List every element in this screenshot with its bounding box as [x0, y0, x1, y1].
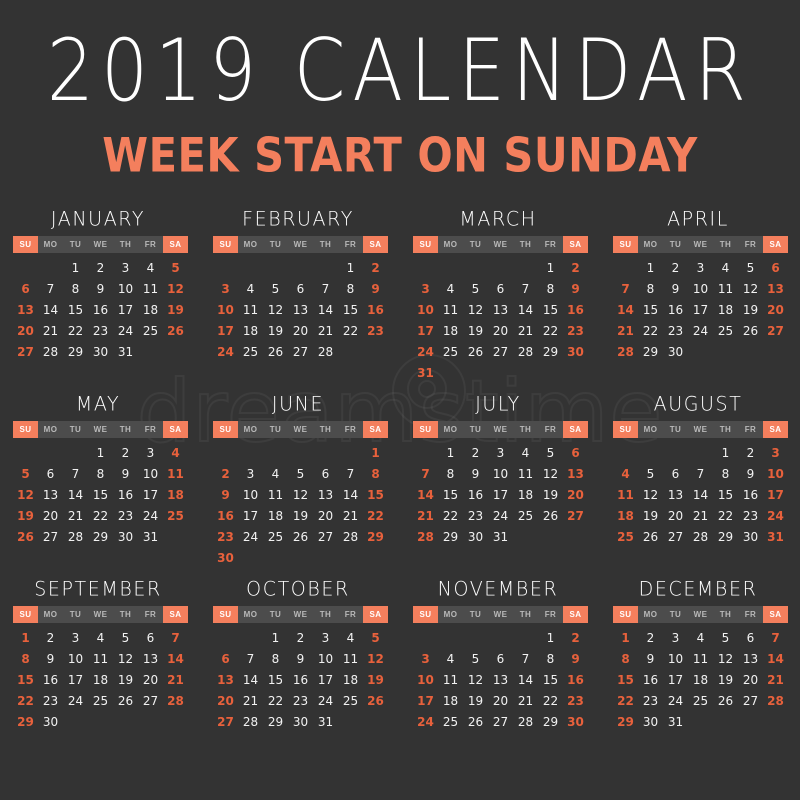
day-cell[interactable]: 26 [363, 690, 388, 711]
day-cell[interactable]: 26 [638, 526, 663, 547]
day-cell[interactable]: 22 [263, 690, 288, 711]
day-cell[interactable]: 14 [513, 299, 538, 320]
day-cell[interactable]: 7 [513, 648, 538, 669]
day-cell[interactable]: 1 [363, 442, 388, 463]
day-cell[interactable]: 19 [638, 505, 663, 526]
day-cell[interactable]: 20 [138, 669, 163, 690]
day-cell[interactable]: 18 [438, 320, 463, 341]
day-cell[interactable]: 1 [713, 442, 738, 463]
day-cell[interactable]: 21 [338, 505, 363, 526]
day-cell[interactable]: 20 [563, 484, 588, 505]
day-cell[interactable]: 13 [563, 463, 588, 484]
day-cell[interactable]: 25 [688, 690, 713, 711]
day-cell[interactable]: 1 [538, 257, 563, 278]
day-cell[interactable]: 10 [63, 648, 88, 669]
day-cell[interactable]: 10 [413, 669, 438, 690]
day-cell[interactable]: 4 [88, 627, 113, 648]
day-cell[interactable]: 28 [513, 341, 538, 362]
day-cell[interactable]: 23 [363, 320, 388, 341]
day-cell[interactable]: 26 [288, 526, 313, 547]
day-cell[interactable]: 6 [488, 278, 513, 299]
day-cell[interactable]: 13 [138, 648, 163, 669]
day-cell[interactable]: 20 [38, 505, 63, 526]
day-cell[interactable]: 8 [638, 278, 663, 299]
day-cell[interactable]: 21 [238, 690, 263, 711]
day-cell[interactable]: 20 [488, 320, 513, 341]
day-cell[interactable]: 4 [238, 278, 263, 299]
day-cell[interactable]: 6 [763, 257, 788, 278]
day-cell[interactable]: 26 [463, 711, 488, 732]
day-cell[interactable]: 1 [88, 442, 113, 463]
day-cell[interactable]: 17 [413, 690, 438, 711]
day-cell[interactable]: 17 [238, 505, 263, 526]
day-cell[interactable]: 20 [663, 505, 688, 526]
day-cell[interactable]: 28 [38, 341, 63, 362]
day-cell[interactable]: 21 [38, 320, 63, 341]
day-cell[interactable]: 2 [88, 257, 113, 278]
day-cell[interactable]: 25 [138, 320, 163, 341]
day-cell[interactable]: 5 [13, 463, 38, 484]
day-cell[interactable]: 19 [13, 505, 38, 526]
day-cell[interactable]: 20 [13, 320, 38, 341]
day-cell[interactable]: 31 [313, 711, 338, 732]
day-cell[interactable]: 3 [663, 627, 688, 648]
day-cell[interactable]: 30 [213, 547, 238, 568]
day-cell[interactable]: 31 [763, 526, 788, 547]
day-cell[interactable]: 21 [413, 505, 438, 526]
day-cell[interactable]: 3 [413, 648, 438, 669]
day-cell[interactable]: 20 [288, 320, 313, 341]
day-cell[interactable]: 31 [138, 526, 163, 547]
day-cell[interactable]: 14 [238, 669, 263, 690]
day-cell[interactable]: 20 [213, 690, 238, 711]
day-cell[interactable]: 6 [488, 648, 513, 669]
day-cell[interactable]: 3 [113, 257, 138, 278]
day-cell[interactable]: 30 [288, 711, 313, 732]
day-cell[interactable]: 26 [713, 690, 738, 711]
day-cell[interactable]: 2 [363, 257, 388, 278]
day-cell[interactable]: 17 [138, 484, 163, 505]
day-cell[interactable]: 28 [688, 526, 713, 547]
day-cell[interactable]: 4 [513, 442, 538, 463]
day-cell[interactable]: 4 [613, 463, 638, 484]
day-cell[interactable]: 23 [663, 320, 688, 341]
day-cell[interactable]: 11 [438, 669, 463, 690]
day-cell[interactable]: 18 [513, 484, 538, 505]
day-cell[interactable]: 6 [663, 463, 688, 484]
day-cell[interactable]: 25 [513, 505, 538, 526]
day-cell[interactable]: 25 [713, 320, 738, 341]
day-cell[interactable]: 8 [63, 278, 88, 299]
day-cell[interactable]: 15 [63, 299, 88, 320]
day-cell[interactable]: 4 [713, 257, 738, 278]
day-cell[interactable]: 20 [763, 299, 788, 320]
day-cell[interactable]: 12 [263, 299, 288, 320]
day-cell[interactable]: 1 [338, 257, 363, 278]
day-cell[interactable]: 24 [663, 690, 688, 711]
day-cell[interactable]: 12 [738, 278, 763, 299]
day-cell[interactable]: 1 [538, 627, 563, 648]
day-cell[interactable]: 2 [738, 442, 763, 463]
day-cell[interactable]: 4 [688, 627, 713, 648]
day-cell[interactable]: 9 [88, 278, 113, 299]
day-cell[interactable]: 28 [613, 341, 638, 362]
day-cell[interactable]: 8 [88, 463, 113, 484]
day-cell[interactable]: 18 [338, 669, 363, 690]
day-cell[interactable]: 25 [88, 690, 113, 711]
day-cell[interactable]: 23 [738, 505, 763, 526]
day-cell[interactable]: 5 [463, 278, 488, 299]
day-cell[interactable]: 9 [638, 648, 663, 669]
day-cell[interactable]: 12 [163, 278, 188, 299]
day-cell[interactable]: 8 [363, 463, 388, 484]
day-cell[interactable]: 28 [413, 526, 438, 547]
day-cell[interactable]: 13 [738, 648, 763, 669]
day-cell[interactable]: 15 [438, 484, 463, 505]
day-cell[interactable]: 11 [238, 299, 263, 320]
day-cell[interactable]: 9 [363, 278, 388, 299]
day-cell[interactable]: 15 [613, 669, 638, 690]
day-cell[interactable]: 9 [738, 463, 763, 484]
day-cell[interactable]: 29 [613, 711, 638, 732]
day-cell[interactable]: 8 [338, 278, 363, 299]
day-cell[interactable]: 19 [263, 320, 288, 341]
day-cell[interactable]: 24 [238, 526, 263, 547]
day-cell[interactable]: 15 [538, 299, 563, 320]
day-cell[interactable]: 18 [438, 690, 463, 711]
day-cell[interactable]: 13 [663, 484, 688, 505]
day-cell[interactable]: 30 [88, 341, 113, 362]
day-cell[interactable]: 25 [438, 341, 463, 362]
day-cell[interactable]: 29 [263, 711, 288, 732]
day-cell[interactable]: 3 [238, 463, 263, 484]
day-cell[interactable]: 5 [713, 627, 738, 648]
day-cell[interactable]: 30 [463, 526, 488, 547]
day-cell[interactable]: 16 [363, 299, 388, 320]
day-cell[interactable]: 1 [638, 257, 663, 278]
day-cell[interactable]: 2 [638, 627, 663, 648]
day-cell[interactable]: 29 [13, 711, 38, 732]
day-cell[interactable]: 24 [413, 341, 438, 362]
day-cell[interactable]: 18 [88, 669, 113, 690]
day-cell[interactable]: 19 [363, 669, 388, 690]
day-cell[interactable]: 17 [113, 299, 138, 320]
day-cell[interactable]: 11 [88, 648, 113, 669]
day-cell[interactable]: 11 [138, 278, 163, 299]
day-cell[interactable]: 20 [313, 505, 338, 526]
day-cell[interactable]: 7 [238, 648, 263, 669]
day-cell[interactable]: 9 [563, 648, 588, 669]
day-cell[interactable]: 18 [613, 505, 638, 526]
day-cell[interactable]: 23 [38, 690, 63, 711]
day-cell[interactable]: 23 [213, 526, 238, 547]
day-cell[interactable]: 26 [113, 690, 138, 711]
day-cell[interactable]: 31 [113, 341, 138, 362]
day-cell[interactable]: 16 [738, 484, 763, 505]
day-cell[interactable]: 18 [163, 484, 188, 505]
day-cell[interactable]: 19 [288, 505, 313, 526]
day-cell[interactable]: 5 [738, 257, 763, 278]
day-cell[interactable]: 10 [663, 648, 688, 669]
day-cell[interactable]: 31 [413, 362, 438, 383]
day-cell[interactable]: 25 [263, 526, 288, 547]
day-cell[interactable]: 22 [538, 690, 563, 711]
day-cell[interactable]: 19 [738, 299, 763, 320]
day-cell[interactable]: 14 [688, 484, 713, 505]
day-cell[interactable]: 24 [413, 711, 438, 732]
day-cell[interactable]: 29 [538, 341, 563, 362]
day-cell[interactable]: 7 [313, 278, 338, 299]
day-cell[interactable]: 24 [213, 341, 238, 362]
day-cell[interactable]: 12 [463, 299, 488, 320]
day-cell[interactable]: 3 [413, 278, 438, 299]
day-cell[interactable]: 14 [338, 484, 363, 505]
day-cell[interactable]: 21 [513, 320, 538, 341]
day-cell[interactable]: 8 [263, 648, 288, 669]
day-cell[interactable]: 6 [288, 278, 313, 299]
day-cell[interactable]: 30 [738, 526, 763, 547]
day-cell[interactable]: 22 [88, 505, 113, 526]
day-cell[interactable]: 14 [613, 299, 638, 320]
day-cell[interactable]: 26 [538, 505, 563, 526]
day-cell[interactable]: 7 [688, 463, 713, 484]
day-cell[interactable]: 24 [688, 320, 713, 341]
day-cell[interactable]: 23 [638, 690, 663, 711]
day-cell[interactable]: 29 [638, 341, 663, 362]
day-cell[interactable]: 19 [113, 669, 138, 690]
day-cell[interactable]: 10 [413, 299, 438, 320]
day-cell[interactable]: 20 [488, 690, 513, 711]
day-cell[interactable]: 16 [213, 505, 238, 526]
day-cell[interactable]: 21 [63, 505, 88, 526]
day-cell[interactable]: 4 [263, 463, 288, 484]
day-cell[interactable]: 22 [613, 690, 638, 711]
day-cell[interactable]: 28 [513, 711, 538, 732]
day-cell[interactable]: 27 [488, 711, 513, 732]
day-cell[interactable]: 27 [763, 320, 788, 341]
day-cell[interactable]: 17 [763, 484, 788, 505]
day-cell[interactable]: 22 [13, 690, 38, 711]
day-cell[interactable]: 13 [488, 669, 513, 690]
day-cell[interactable]: 3 [763, 442, 788, 463]
day-cell[interactable]: 16 [638, 669, 663, 690]
day-cell[interactable]: 19 [463, 690, 488, 711]
day-cell[interactable]: 5 [463, 648, 488, 669]
day-cell[interactable]: 21 [763, 669, 788, 690]
day-cell[interactable]: 29 [363, 526, 388, 547]
day-cell[interactable]: 11 [713, 278, 738, 299]
day-cell[interactable]: 16 [88, 299, 113, 320]
day-cell[interactable]: 11 [163, 463, 188, 484]
day-cell[interactable]: 19 [163, 299, 188, 320]
day-cell[interactable]: 25 [438, 711, 463, 732]
day-cell[interactable]: 12 [463, 669, 488, 690]
day-cell[interactable]: 8 [13, 648, 38, 669]
day-cell[interactable]: 4 [438, 648, 463, 669]
day-cell[interactable]: 18 [713, 299, 738, 320]
day-cell[interactable]: 13 [38, 484, 63, 505]
day-cell[interactable]: 11 [263, 484, 288, 505]
day-cell[interactable]: 12 [363, 648, 388, 669]
day-cell[interactable]: 13 [288, 299, 313, 320]
day-cell[interactable]: 16 [563, 299, 588, 320]
day-cell[interactable]: 21 [513, 690, 538, 711]
day-cell[interactable]: 13 [313, 484, 338, 505]
day-cell[interactable]: 15 [638, 299, 663, 320]
day-cell[interactable]: 16 [113, 484, 138, 505]
day-cell[interactable]: 2 [563, 257, 588, 278]
day-cell[interactable]: 23 [113, 505, 138, 526]
day-cell[interactable]: 1 [438, 442, 463, 463]
day-cell[interactable]: 6 [213, 648, 238, 669]
day-cell[interactable]: 24 [763, 505, 788, 526]
day-cell[interactable]: 22 [338, 320, 363, 341]
day-cell[interactable]: 27 [488, 341, 513, 362]
day-cell[interactable]: 30 [113, 526, 138, 547]
day-cell[interactable]: 28 [63, 526, 88, 547]
day-cell[interactable]: 8 [613, 648, 638, 669]
day-cell[interactable]: 3 [313, 627, 338, 648]
day-cell[interactable]: 9 [288, 648, 313, 669]
day-cell[interactable]: 25 [338, 690, 363, 711]
day-cell[interactable]: 16 [38, 669, 63, 690]
day-cell[interactable]: 4 [338, 627, 363, 648]
day-cell[interactable]: 7 [613, 278, 638, 299]
day-cell[interactable]: 5 [538, 442, 563, 463]
day-cell[interactable]: 27 [213, 711, 238, 732]
day-cell[interactable]: 4 [163, 442, 188, 463]
day-cell[interactable]: 10 [763, 463, 788, 484]
day-cell[interactable]: 15 [538, 669, 563, 690]
day-cell[interactable]: 9 [563, 278, 588, 299]
day-cell[interactable]: 30 [663, 341, 688, 362]
day-cell[interactable]: 8 [713, 463, 738, 484]
day-cell[interactable]: 27 [138, 690, 163, 711]
day-cell[interactable]: 28 [238, 711, 263, 732]
day-cell[interactable]: 15 [88, 484, 113, 505]
day-cell[interactable]: 2 [213, 463, 238, 484]
day-cell[interactable]: 30 [563, 341, 588, 362]
day-cell[interactable]: 29 [538, 711, 563, 732]
day-cell[interactable]: 29 [438, 526, 463, 547]
day-cell[interactable]: 18 [238, 320, 263, 341]
day-cell[interactable]: 6 [563, 442, 588, 463]
day-cell[interactable]: 5 [638, 463, 663, 484]
day-cell[interactable]: 17 [488, 484, 513, 505]
day-cell[interactable]: 27 [663, 526, 688, 547]
day-cell[interactable]: 22 [638, 320, 663, 341]
day-cell[interactable]: 14 [163, 648, 188, 669]
day-cell[interactable]: 1 [263, 627, 288, 648]
day-cell[interactable]: 22 [538, 320, 563, 341]
day-cell[interactable]: 23 [563, 690, 588, 711]
day-cell[interactable]: 27 [13, 341, 38, 362]
day-cell[interactable]: 7 [63, 463, 88, 484]
day-cell[interactable]: 2 [663, 257, 688, 278]
day-cell[interactable]: 30 [38, 711, 63, 732]
day-cell[interactable]: 12 [288, 484, 313, 505]
day-cell[interactable]: 28 [313, 341, 338, 362]
day-cell[interactable]: 2 [288, 627, 313, 648]
day-cell[interactable]: 14 [763, 648, 788, 669]
day-cell[interactable]: 5 [363, 627, 388, 648]
day-cell[interactable]: 21 [313, 320, 338, 341]
day-cell[interactable]: 12 [713, 648, 738, 669]
day-cell[interactable]: 26 [463, 341, 488, 362]
day-cell[interactable]: 16 [463, 484, 488, 505]
day-cell[interactable]: 17 [663, 669, 688, 690]
day-cell[interactable]: 7 [338, 463, 363, 484]
day-cell[interactable]: 18 [138, 299, 163, 320]
day-cell[interactable]: 27 [563, 505, 588, 526]
day-cell[interactable]: 14 [38, 299, 63, 320]
day-cell[interactable]: 9 [663, 278, 688, 299]
day-cell[interactable]: 17 [313, 669, 338, 690]
day-cell[interactable]: 17 [213, 320, 238, 341]
day-cell[interactable]: 26 [13, 526, 38, 547]
day-cell[interactable]: 15 [363, 484, 388, 505]
day-cell[interactable]: 11 [338, 648, 363, 669]
day-cell[interactable]: 6 [738, 627, 763, 648]
day-cell[interactable]: 3 [688, 257, 713, 278]
day-cell[interactable]: 22 [438, 505, 463, 526]
day-cell[interactable]: 10 [488, 463, 513, 484]
day-cell[interactable]: 1 [613, 627, 638, 648]
day-cell[interactable]: 28 [763, 690, 788, 711]
day-cell[interactable]: 24 [113, 320, 138, 341]
day-cell[interactable]: 12 [638, 484, 663, 505]
day-cell[interactable]: 7 [38, 278, 63, 299]
day-cell[interactable]: 6 [13, 278, 38, 299]
day-cell[interactable]: 19 [538, 484, 563, 505]
day-cell[interactable]: 2 [463, 442, 488, 463]
day-cell[interactable]: 24 [488, 505, 513, 526]
day-cell[interactable]: 9 [113, 463, 138, 484]
day-cell[interactable]: 7 [763, 627, 788, 648]
day-cell[interactable]: 29 [63, 341, 88, 362]
day-cell[interactable]: 28 [163, 690, 188, 711]
day-cell[interactable]: 3 [138, 442, 163, 463]
day-cell[interactable]: 10 [138, 463, 163, 484]
day-cell[interactable]: 6 [313, 463, 338, 484]
day-cell[interactable]: 5 [163, 257, 188, 278]
day-cell[interactable]: 23 [463, 505, 488, 526]
day-cell[interactable]: 16 [663, 299, 688, 320]
day-cell[interactable]: 26 [738, 320, 763, 341]
day-cell[interactable]: 7 [163, 627, 188, 648]
day-cell[interactable]: 10 [313, 648, 338, 669]
day-cell[interactable]: 1 [63, 257, 88, 278]
day-cell[interactable]: 6 [138, 627, 163, 648]
day-cell[interactable]: 13 [13, 299, 38, 320]
day-cell[interactable]: 23 [88, 320, 113, 341]
day-cell[interactable]: 13 [488, 299, 513, 320]
day-cell[interactable]: 11 [513, 463, 538, 484]
day-cell[interactable]: 14 [313, 299, 338, 320]
day-cell[interactable]: 15 [263, 669, 288, 690]
day-cell[interactable]: 25 [613, 526, 638, 547]
day-cell[interactable]: 11 [438, 299, 463, 320]
day-cell[interactable]: 5 [288, 463, 313, 484]
day-cell[interactable]: 7 [413, 463, 438, 484]
day-cell[interactable]: 24 [313, 690, 338, 711]
day-cell[interactable]: 9 [213, 484, 238, 505]
day-cell[interactable]: 10 [688, 278, 713, 299]
day-cell[interactable]: 10 [213, 299, 238, 320]
day-cell[interactable]: 22 [713, 505, 738, 526]
day-cell[interactable]: 2 [38, 627, 63, 648]
day-cell[interactable]: 26 [263, 341, 288, 362]
